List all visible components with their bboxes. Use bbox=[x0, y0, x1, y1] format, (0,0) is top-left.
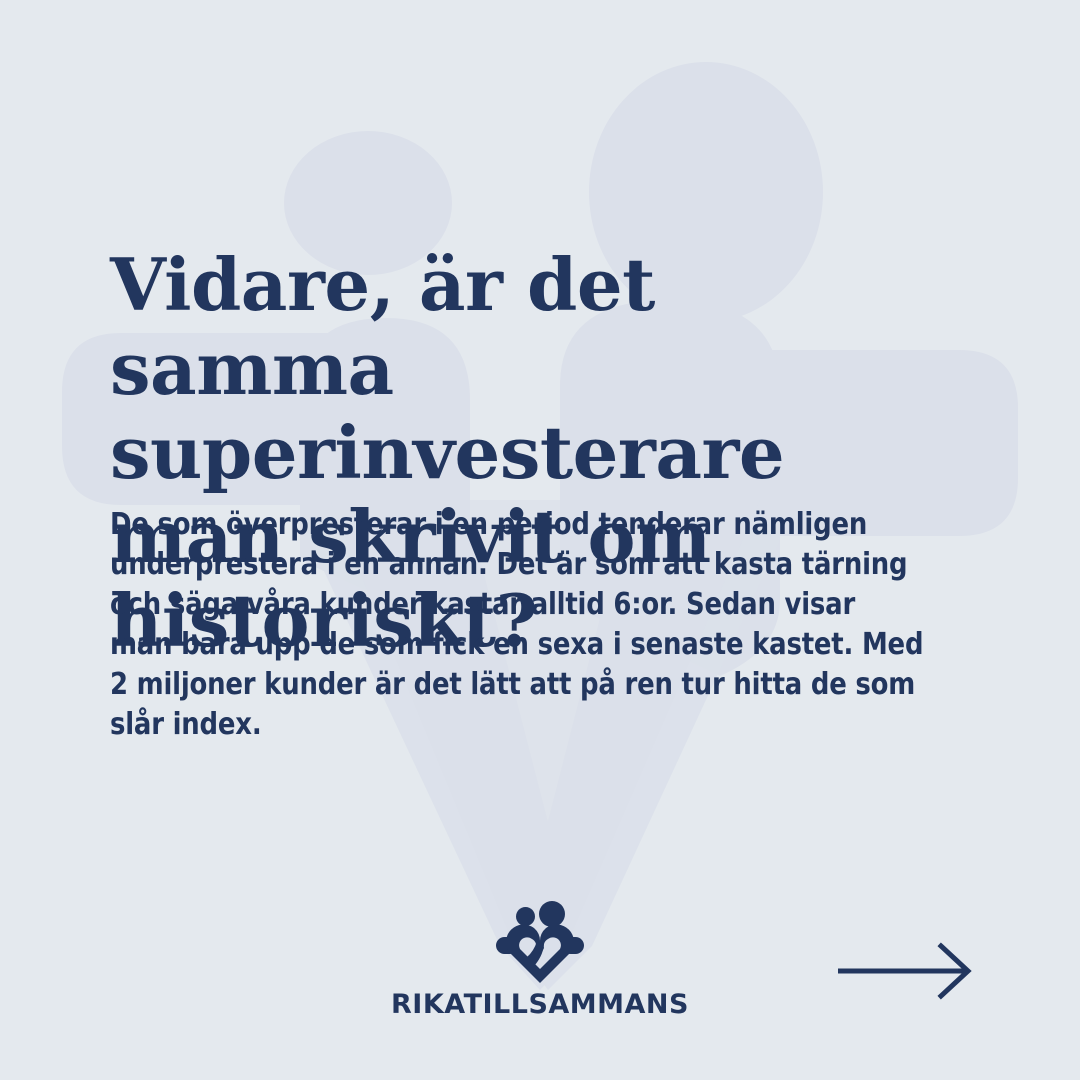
brand-wordmark: RIKATILLSAMMANS bbox=[391, 991, 689, 1018]
body-paragraph: De som överpresterar i en period tendera… bbox=[110, 505, 926, 745]
two-people-heart-icon bbox=[494, 901, 586, 985]
slide-canvas: Vidare, är det samma superinvesterare ma… bbox=[0, 0, 1080, 1080]
next-arrow-icon[interactable] bbox=[836, 940, 976, 1002]
